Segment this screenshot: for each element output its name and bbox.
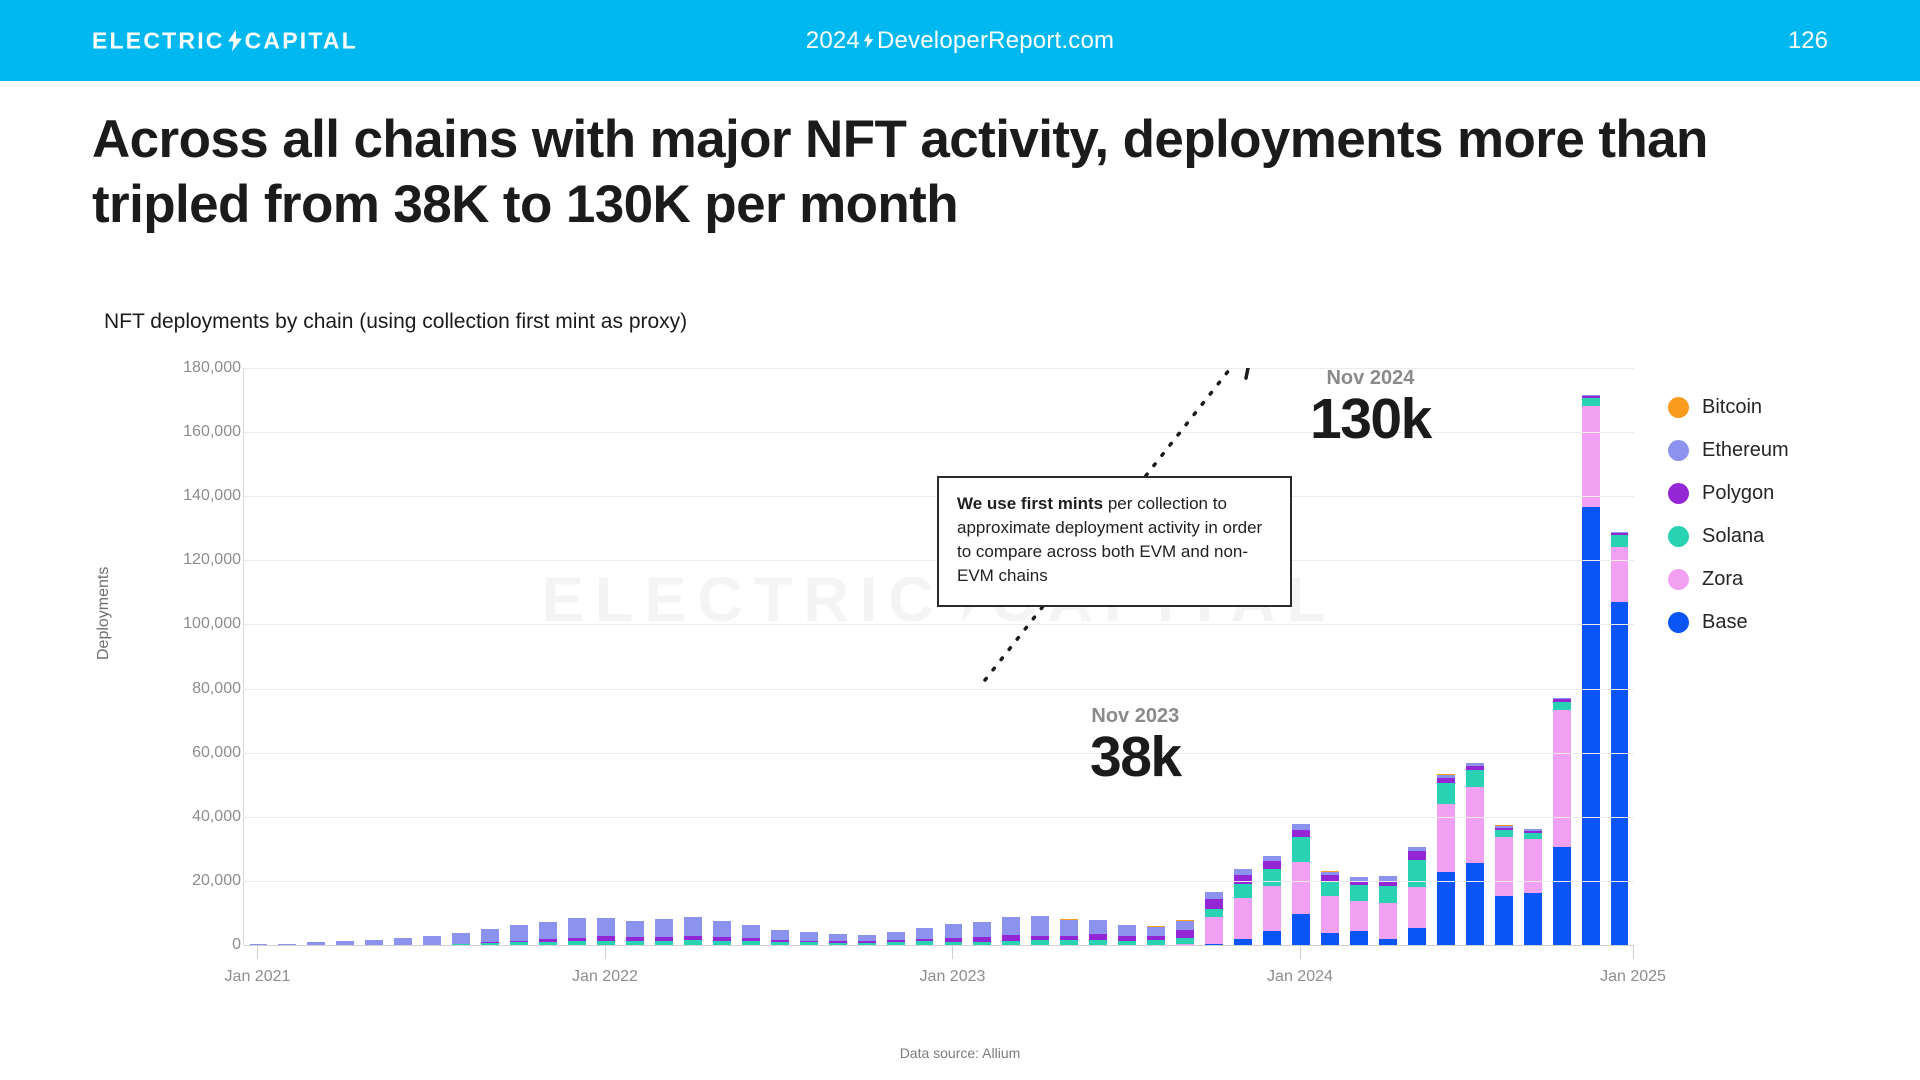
bar-segment-base	[1524, 893, 1542, 945]
bar-segment-zora	[1408, 887, 1426, 928]
bar-column[interactable]	[1060, 919, 1078, 945]
bar-column[interactable]	[713, 921, 731, 945]
x-tick-label: Jan 2023	[920, 968, 986, 986]
bar-segment-ethereum	[1205, 892, 1223, 899]
bar-column[interactable]	[1089, 920, 1107, 945]
bar-column[interactable]	[1292, 824, 1310, 945]
legend-item-ethereum[interactable]: Ethereum	[1668, 429, 1789, 472]
bar-column[interactable]	[684, 917, 702, 945]
x-axis-line	[244, 945, 1634, 946]
bar-segment-polygon	[1408, 851, 1426, 860]
bar-column[interactable]	[945, 924, 963, 945]
bar-segment-base	[1263, 931, 1281, 945]
bar-segment-solana	[1582, 398, 1600, 406]
bar-segment-zora	[1524, 839, 1542, 893]
gridline	[244, 624, 1634, 625]
x-tick-mark	[1633, 945, 1634, 959]
bar-segment-solana	[1321, 881, 1339, 896]
y-tick-label: 180,000	[121, 359, 241, 377]
bar-segment-solana	[1263, 869, 1281, 886]
bar-segment-solana	[1437, 783, 1455, 804]
bar-segment-ethereum	[597, 918, 615, 936]
bar-segment-ethereum	[568, 918, 586, 937]
bar-column[interactable]	[1031, 916, 1049, 945]
bar-segment-ethereum	[1176, 921, 1194, 930]
bar-column[interactable]	[887, 932, 905, 945]
callout-2023-value: 38k	[1090, 729, 1181, 786]
bar-segment-ethereum	[423, 936, 441, 945]
bar-segment-solana	[1234, 884, 1252, 898]
legend-color-dot	[1668, 483, 1689, 504]
y-tick-label: 40,000	[121, 808, 241, 826]
legend-item-bitcoin[interactable]: Bitcoin	[1668, 386, 1789, 429]
bar-segment-zora	[1495, 837, 1513, 896]
bar-column[interactable]	[655, 919, 673, 945]
x-tick-label: Jan 2024	[1267, 968, 1333, 986]
callout-nov-2024: Nov 2024 130k	[1310, 367, 1431, 448]
bar-column[interactable]	[1002, 917, 1020, 945]
y-axis-label: Deployments	[95, 567, 113, 660]
bar-segment-ethereum	[1060, 920, 1078, 936]
bar-segment-ethereum	[1002, 917, 1020, 935]
legend-color-dot	[1668, 440, 1689, 461]
bar-segment-solana	[1408, 860, 1426, 887]
y-tick-label: 0	[121, 936, 241, 954]
legend-label: Zora	[1702, 568, 1743, 591]
bar-column[interactable]	[1176, 920, 1194, 945]
bar-column[interactable]	[1495, 825, 1513, 945]
legend-item-base[interactable]: Base	[1668, 601, 1789, 644]
bar-series-group	[244, 368, 1634, 945]
legend-color-dot	[1668, 397, 1689, 418]
bar-column[interactable]	[1524, 829, 1542, 945]
bar-segment-ethereum	[916, 928, 934, 939]
bar-column[interactable]	[452, 933, 470, 945]
data-source-footer: Data source: Allium	[0, 1045, 1920, 1061]
bar-column[interactable]	[858, 935, 876, 945]
bar-column[interactable]	[1408, 847, 1426, 945]
bar-column[interactable]	[394, 938, 412, 945]
y-tick-label: 100,000	[121, 615, 241, 633]
gridline	[244, 881, 1634, 882]
bar-segment-base	[1437, 872, 1455, 945]
bar-segment-ethereum	[452, 933, 470, 944]
legend-label: Polygon	[1702, 482, 1774, 505]
bar-column[interactable]	[1553, 698, 1571, 945]
bar-column[interactable]	[771, 930, 789, 945]
x-tick-mark	[952, 945, 953, 959]
bar-column[interactable]	[597, 918, 615, 945]
bar-column[interactable]	[423, 936, 441, 945]
bar-segment-zora	[1553, 710, 1571, 847]
bar-segment-ethereum	[742, 925, 760, 938]
bar-column[interactable]	[1205, 892, 1223, 945]
legend-color-dot	[1668, 526, 1689, 547]
bar-segment-base	[1292, 914, 1310, 945]
bar-segment-ethereum	[858, 935, 876, 942]
bar-segment-ethereum	[394, 938, 412, 945]
gridline	[244, 689, 1634, 690]
bar-segment-base	[1321, 933, 1339, 946]
chart-legend: BitcoinEthereumPolygonSolanaZoraBase	[1668, 386, 1789, 644]
bar-column[interactable]	[568, 918, 586, 945]
bar-column[interactable]	[1466, 763, 1484, 945]
gridline	[244, 753, 1634, 754]
bar-segment-ethereum	[1118, 925, 1136, 937]
legend-item-polygon[interactable]: Polygon	[1668, 472, 1789, 515]
bar-column[interactable]	[481, 929, 499, 945]
bar-segment-ethereum	[771, 930, 789, 940]
bar-segment-ethereum	[973, 922, 991, 937]
legend-label: Bitcoin	[1702, 396, 1762, 419]
bar-segment-solana	[1611, 535, 1629, 547]
bar-segment-base	[1408, 928, 1426, 945]
y-tick-label: 160,000	[121, 423, 241, 441]
bar-segment-solana	[1495, 830, 1513, 837]
x-tick-mark	[257, 945, 258, 959]
bar-column[interactable]	[1437, 774, 1455, 945]
bar-segment-solana	[1553, 702, 1571, 710]
note-bold-text: We use first mints	[957, 494, 1103, 513]
bar-segment-ethereum	[800, 932, 818, 940]
bar-segment-ethereum	[510, 925, 528, 940]
bar-column[interactable]	[916, 928, 934, 945]
bar-segment-ethereum	[626, 921, 644, 937]
bar-segment-solana	[1379, 886, 1397, 903]
bar-column[interactable]	[742, 925, 760, 945]
bar-segment-ethereum	[1031, 916, 1049, 936]
bar-segment-zora	[1321, 896, 1339, 933]
bar-segment-polygon	[1234, 875, 1252, 885]
bar-segment-solana	[1292, 837, 1310, 861]
legend-item-zora[interactable]: Zora	[1668, 558, 1789, 601]
bar-segment-solana	[1350, 885, 1368, 901]
x-tick-label: Jan 2022	[572, 968, 638, 986]
bar-column[interactable]	[626, 921, 644, 945]
bar-segment-polygon	[1176, 930, 1194, 938]
bar-segment-ethereum	[713, 921, 731, 936]
bar-column[interactable]	[1611, 532, 1629, 945]
bar-segment-solana	[1205, 909, 1223, 917]
bar-segment-zora	[1205, 917, 1223, 944]
chart-container: ELECTRIC CAPITAL 020,00040,00060,00080,0…	[243, 368, 1633, 945]
bar-segment-base	[1611, 602, 1629, 945]
lightning-bolt-icon-small	[863, 32, 874, 49]
x-tick-label: Jan 2021	[225, 968, 291, 986]
bar-column[interactable]	[1582, 395, 1600, 945]
callout-2024-value: 130k	[1310, 391, 1431, 448]
chart-subtitle: NFT deployments by chain (using collecti…	[104, 310, 687, 334]
bar-column[interactable]	[829, 934, 847, 945]
slide-root: ELECTRIC CAPITAL 2024 DeveloperReport.co…	[0, 0, 1920, 1080]
bar-segment-ethereum	[481, 929, 499, 942]
x-tick-mark	[1300, 945, 1301, 959]
plot-area: ELECTRIC CAPITAL	[243, 368, 1633, 945]
legend-label: Base	[1702, 611, 1748, 634]
bar-column[interactable]	[1118, 925, 1136, 945]
bar-segment-zora	[1611, 547, 1629, 602]
bar-column[interactable]	[1350, 877, 1368, 945]
y-tick-label: 20,000	[121, 872, 241, 890]
header-report-link[interactable]: 2024 DeveloperReport.com	[0, 27, 1920, 55]
header-site: DeveloperReport.com	[877, 27, 1114, 55]
bar-segment-base	[1466, 863, 1484, 945]
bar-column[interactable]	[1321, 871, 1339, 945]
bar-segment-ethereum	[539, 922, 557, 939]
top-header-bar: ELECTRIC CAPITAL 2024 DeveloperReport.co…	[0, 0, 1920, 81]
bar-segment-zora	[1292, 862, 1310, 914]
bar-segment-solana	[1466, 770, 1484, 787]
bar-segment-zora	[1234, 898, 1252, 939]
callout-nov-2023: Nov 2023 38k	[1090, 705, 1181, 786]
y-tick-label: 60,000	[121, 744, 241, 762]
bar-segment-polygon	[1292, 830, 1310, 838]
bar-segment-zora	[1379, 903, 1397, 939]
y-tick-label: 140,000	[121, 487, 241, 505]
bar-segment-polygon	[1263, 861, 1281, 869]
bar-segment-ethereum	[829, 934, 847, 941]
bar-segment-ethereum	[655, 919, 673, 937]
legend-color-dot	[1668, 569, 1689, 590]
bar-column[interactable]	[539, 922, 557, 945]
methodology-note: We use first mints per collection to app…	[937, 476, 1292, 607]
bar-segment-zora	[1437, 804, 1455, 872]
bar-segment-base	[1582, 507, 1600, 945]
page-number: 126	[1788, 27, 1828, 55]
legend-item-solana[interactable]: Solana	[1668, 515, 1789, 558]
bar-segment-zora	[1582, 406, 1600, 507]
legend-label: Ethereum	[1702, 439, 1789, 462]
bar-segment-zora	[1263, 886, 1281, 932]
bar-segment-polygon	[1205, 899, 1223, 909]
bar-column[interactable]	[1379, 876, 1397, 945]
bar-segment-ethereum	[1147, 927, 1165, 937]
header-year: 2024	[806, 27, 860, 55]
bar-segment-base	[1495, 896, 1513, 945]
bar-column[interactable]	[1263, 856, 1281, 945]
bar-segment-ethereum	[887, 932, 905, 941]
bar-column[interactable]	[973, 922, 991, 945]
bar-segment-zora	[1466, 787, 1484, 863]
bar-column[interactable]	[800, 932, 818, 945]
bar-column[interactable]	[510, 925, 528, 945]
gridline	[244, 817, 1634, 818]
x-tick-mark	[605, 945, 606, 959]
bar-column[interactable]	[1147, 926, 1165, 945]
x-tick-label: Jan 2025	[1600, 968, 1666, 986]
legend-label: Solana	[1702, 525, 1764, 548]
bar-segment-ethereum	[684, 917, 702, 935]
y-tick-label: 80,000	[121, 680, 241, 698]
legend-color-dot	[1668, 612, 1689, 633]
y-tick-label: 120,000	[121, 551, 241, 569]
slide-title: Across all chains with major NFT activit…	[92, 108, 1812, 237]
bar-segment-ethereum	[945, 924, 963, 938]
bar-segment-base	[1350, 931, 1368, 945]
bar-segment-base	[1553, 847, 1571, 945]
bar-segment-zora	[1350, 901, 1368, 931]
bar-segment-ethereum	[1089, 920, 1107, 934]
